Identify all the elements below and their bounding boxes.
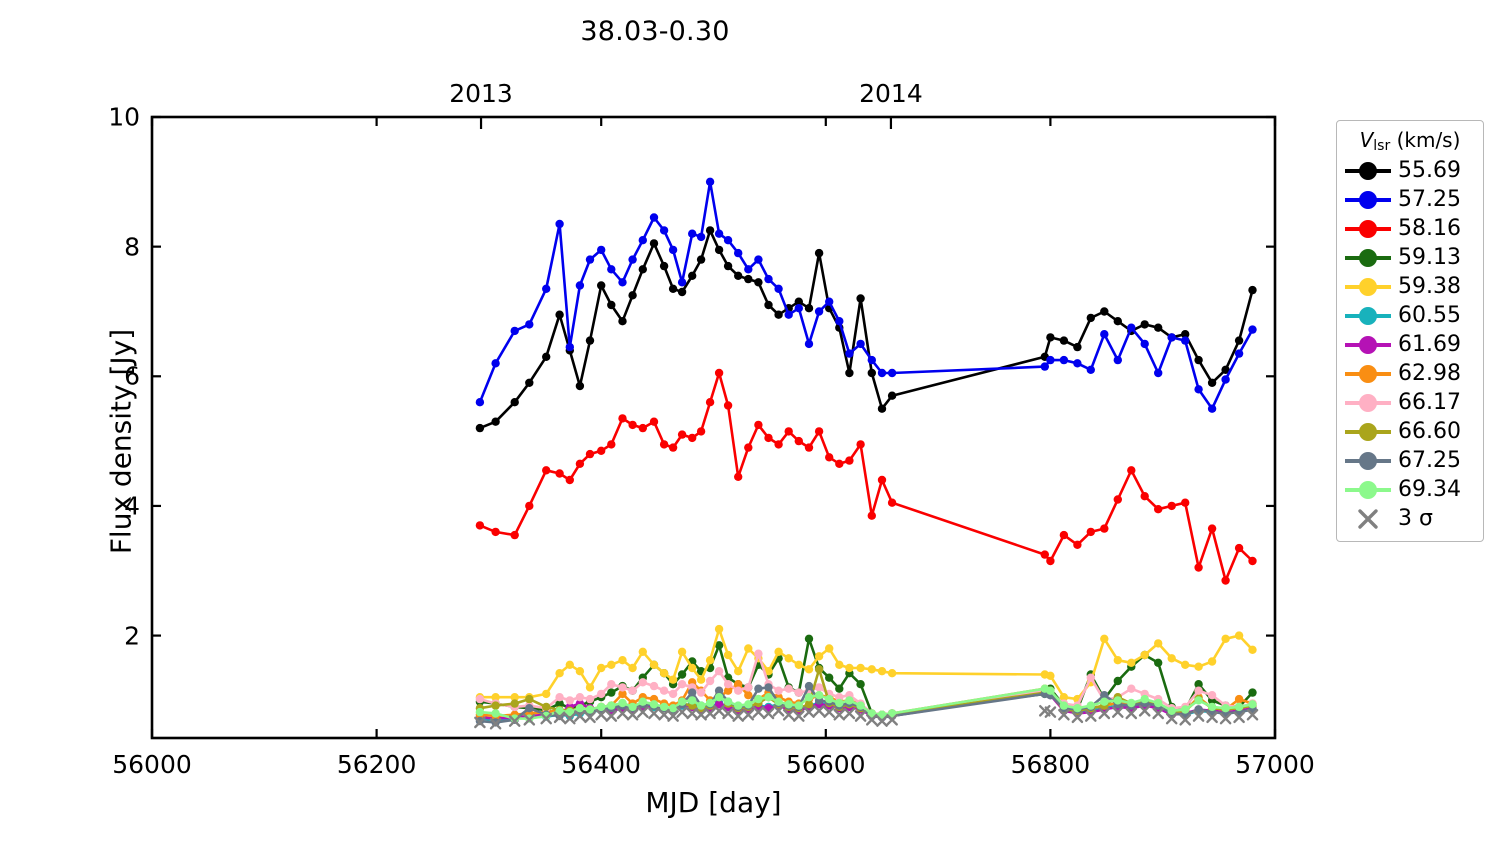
year-tick-label: 2013 xyxy=(449,79,513,108)
data-point xyxy=(1114,495,1122,503)
data-point xyxy=(1100,635,1108,643)
data-point xyxy=(597,246,605,254)
data-point xyxy=(888,669,896,677)
data-point xyxy=(1073,359,1081,367)
data-point xyxy=(1181,336,1189,344)
data-point xyxy=(476,398,484,406)
data-point xyxy=(542,353,550,361)
legend-item-61.69[interactable]: 61.69 xyxy=(1345,330,1475,359)
data-point xyxy=(1248,557,1256,565)
legend-color-swatch xyxy=(1345,160,1391,182)
data-point xyxy=(650,239,658,247)
data-point xyxy=(1046,687,1054,695)
data-point xyxy=(650,418,658,426)
data-point xyxy=(525,695,533,703)
legend-color-swatch xyxy=(1345,392,1391,414)
data-point xyxy=(825,674,833,682)
legend-marker-dot xyxy=(1359,307,1377,325)
data-point xyxy=(724,651,732,659)
legend-color-swatch xyxy=(1345,450,1391,472)
data-point xyxy=(639,424,647,432)
data-point xyxy=(1168,502,1176,510)
legend-item-60.55[interactable]: 60.55 xyxy=(1345,301,1475,330)
data-point xyxy=(688,664,696,672)
data-point xyxy=(1248,286,1256,294)
y-tick-label: 10 xyxy=(66,103,140,132)
x-tick-label: 56000 xyxy=(112,750,192,779)
data-point xyxy=(618,317,626,325)
data-point xyxy=(669,285,677,293)
data-point xyxy=(1154,659,1162,667)
data-point xyxy=(805,635,813,643)
data-point xyxy=(774,698,782,706)
data-point xyxy=(576,704,584,712)
data-point xyxy=(628,664,636,672)
legend-title: Vlsr (km/s) xyxy=(1345,128,1475,154)
data-point xyxy=(586,683,594,691)
data-point xyxy=(715,667,723,675)
data-point xyxy=(805,304,813,312)
series-58.16 xyxy=(476,369,1257,585)
legend-item-58.16[interactable]: 58.16 xyxy=(1345,214,1475,243)
x-tick-label: 56400 xyxy=(561,750,641,779)
data-point xyxy=(650,661,658,669)
data-point xyxy=(706,178,714,186)
data-point xyxy=(754,255,762,263)
data-point xyxy=(785,311,793,319)
data-point xyxy=(628,687,636,695)
data-point xyxy=(660,440,668,448)
legend-item-label: 60.55 xyxy=(1391,303,1461,328)
data-point xyxy=(754,695,762,703)
data-point xyxy=(1060,336,1068,344)
data-point xyxy=(724,236,732,244)
legend-item-66.17[interactable]: 66.17 xyxy=(1345,388,1475,417)
data-point xyxy=(1168,707,1176,715)
data-point xyxy=(724,680,732,688)
x-tick-label: 56800 xyxy=(1011,750,1091,779)
data-point xyxy=(678,698,686,706)
data-point xyxy=(868,356,876,364)
data-point xyxy=(597,447,605,455)
legend-marker-dot xyxy=(1359,394,1377,412)
data-point xyxy=(1235,631,1243,639)
data-point xyxy=(607,661,615,669)
data-point xyxy=(706,398,714,406)
data-point xyxy=(724,401,732,409)
data-point xyxy=(1114,696,1122,704)
data-point xyxy=(795,437,803,445)
data-point xyxy=(1168,654,1176,662)
data-point xyxy=(678,670,686,678)
data-point xyxy=(845,456,853,464)
data-point xyxy=(754,278,762,286)
legend-color-swatch xyxy=(1345,421,1391,443)
data-point xyxy=(1046,356,1054,364)
data-point xyxy=(764,693,772,701)
data-point xyxy=(715,693,723,701)
legend-item-59.38[interactable]: 59.38 xyxy=(1345,272,1475,301)
data-point xyxy=(744,275,752,283)
data-point xyxy=(628,703,636,711)
data-point xyxy=(1221,576,1229,584)
legend-box: Vlsr (km/s) 55.6957.2558.1659.1359.3860.… xyxy=(1336,120,1484,542)
data-point xyxy=(491,709,499,717)
data-point xyxy=(1181,661,1189,669)
x-tick-label: 56200 xyxy=(337,750,417,779)
data-point xyxy=(628,421,636,429)
data-point xyxy=(785,700,793,708)
data-point xyxy=(1208,405,1216,413)
legend-item-67.25[interactable]: 67.25 xyxy=(1345,446,1475,475)
data-point xyxy=(1141,492,1149,500)
legend-item-57.25[interactable]: 57.25 xyxy=(1345,185,1475,214)
data-point xyxy=(815,683,823,691)
data-point xyxy=(639,678,647,686)
data-point xyxy=(697,688,705,696)
data-point xyxy=(542,703,550,711)
data-point xyxy=(669,246,677,254)
data-point xyxy=(1248,646,1256,654)
data-point xyxy=(1154,699,1162,707)
data-point xyxy=(576,281,584,289)
legend-title-symbol: V xyxy=(1360,128,1374,152)
data-point xyxy=(888,369,896,377)
data-point xyxy=(805,693,813,701)
x-axis-label: MJD [day] xyxy=(152,786,1275,819)
data-point xyxy=(555,469,563,477)
data-point xyxy=(628,255,636,263)
data-point xyxy=(835,317,843,325)
legend-color-swatch xyxy=(1345,276,1391,298)
data-point xyxy=(1073,541,1081,549)
data-point xyxy=(724,262,732,270)
legend-title-unit: (km/s) xyxy=(1390,128,1460,152)
legend-marker-dot xyxy=(1359,220,1377,238)
data-point xyxy=(1127,466,1135,474)
data-point xyxy=(576,693,584,701)
data-point xyxy=(1208,524,1216,532)
data-point xyxy=(1154,505,1162,513)
data-point xyxy=(1073,704,1081,712)
data-point xyxy=(688,696,696,704)
data-point xyxy=(607,265,615,273)
data-point xyxy=(1141,340,1149,348)
legend-marker-dot xyxy=(1359,452,1377,470)
data-point xyxy=(1248,325,1256,333)
legend-item-label: 62.98 xyxy=(1391,361,1461,386)
data-point xyxy=(1168,333,1176,341)
data-point xyxy=(1181,705,1189,713)
data-point xyxy=(511,398,519,406)
data-point xyxy=(1194,663,1202,671)
data-point xyxy=(639,698,647,706)
data-point xyxy=(555,669,563,677)
data-point xyxy=(715,246,723,254)
data-point xyxy=(688,272,696,280)
data-point xyxy=(476,424,484,432)
data-point xyxy=(856,664,864,672)
data-point xyxy=(754,421,762,429)
series-line xyxy=(480,230,1253,428)
data-point xyxy=(734,687,742,695)
data-point xyxy=(856,340,864,348)
data-point xyxy=(1127,659,1135,667)
data-point xyxy=(795,688,803,696)
data-point xyxy=(678,430,686,438)
data-point xyxy=(542,690,550,698)
legend-item-label: 55.69 xyxy=(1391,158,1461,183)
data-point xyxy=(669,704,677,712)
data-point xyxy=(525,502,533,510)
data-point xyxy=(878,405,886,413)
data-point xyxy=(764,683,772,691)
data-point xyxy=(1141,320,1149,328)
data-point xyxy=(774,440,782,448)
data-point xyxy=(678,278,686,286)
legend-item-55.69[interactable]: 55.69 xyxy=(1345,156,1475,185)
data-point xyxy=(1087,674,1095,682)
data-point xyxy=(868,665,876,673)
data-point xyxy=(1235,336,1243,344)
data-point xyxy=(525,379,533,387)
data-point xyxy=(597,703,605,711)
data-point xyxy=(586,336,594,344)
data-point xyxy=(706,699,714,707)
data-point xyxy=(805,665,813,673)
data-point xyxy=(511,531,519,539)
y-tick-label: 8 xyxy=(66,232,140,261)
data-point xyxy=(650,682,658,690)
legend-color-swatch xyxy=(1345,218,1391,240)
data-layer xyxy=(475,178,1257,729)
legend-color-swatch xyxy=(1345,247,1391,269)
data-point xyxy=(1087,701,1095,709)
data-point xyxy=(1041,550,1049,558)
data-point xyxy=(1087,314,1095,322)
data-point xyxy=(764,301,772,309)
data-point xyxy=(476,708,484,716)
data-point xyxy=(754,685,762,693)
data-point xyxy=(1114,356,1122,364)
data-point xyxy=(576,382,584,390)
data-point xyxy=(1114,317,1122,325)
data-point xyxy=(1141,651,1149,659)
data-point xyxy=(1141,695,1149,703)
data-point xyxy=(688,434,696,442)
y-tick-label: 4 xyxy=(66,491,140,520)
plot-axes xyxy=(0,0,1500,844)
data-point xyxy=(607,701,615,709)
legend-item-label: 69.34 xyxy=(1391,477,1461,502)
data-point xyxy=(734,667,742,675)
x-tick-label: 56600 xyxy=(786,750,866,779)
data-point xyxy=(715,625,723,633)
y-axis-label: Flux density [Jy] xyxy=(105,131,138,753)
x-tick-label: 57000 xyxy=(1235,750,1315,779)
data-point xyxy=(1208,657,1216,665)
data-point xyxy=(1154,639,1162,647)
data-point xyxy=(856,680,864,688)
data-point xyxy=(1127,699,1135,707)
data-point xyxy=(586,255,594,263)
data-point xyxy=(825,695,833,703)
data-point xyxy=(835,685,843,693)
data-point xyxy=(525,704,533,712)
data-point xyxy=(744,683,752,691)
data-point xyxy=(1194,687,1202,695)
data-point xyxy=(618,683,626,691)
data-point xyxy=(754,650,762,658)
data-point xyxy=(706,677,714,685)
legend-sigma-swatch xyxy=(1345,508,1391,530)
data-point xyxy=(697,255,705,263)
legend-item-label: 61.69 xyxy=(1391,332,1461,357)
data-point xyxy=(868,369,876,377)
legend-marker-dot xyxy=(1359,481,1377,499)
data-point xyxy=(1060,531,1068,539)
data-point xyxy=(476,695,484,703)
data-point xyxy=(734,701,742,709)
data-point xyxy=(1046,557,1054,565)
data-point xyxy=(845,369,853,377)
data-point xyxy=(825,453,833,461)
legend-marker-dot xyxy=(1359,336,1377,354)
data-point xyxy=(1087,366,1095,374)
legend-item-59.13[interactable]: 59.13 xyxy=(1345,243,1475,272)
legend-item-label: 66.17 xyxy=(1391,390,1461,415)
data-point xyxy=(491,359,499,367)
data-point xyxy=(618,278,626,286)
data-point xyxy=(1100,307,1108,315)
data-point xyxy=(511,699,519,707)
legend-color-swatch xyxy=(1345,189,1391,211)
data-point xyxy=(1194,696,1202,704)
data-point xyxy=(688,688,696,696)
data-point xyxy=(845,664,853,672)
data-point xyxy=(845,349,853,357)
data-point xyxy=(744,644,752,652)
data-point xyxy=(491,528,499,536)
data-point xyxy=(618,699,626,707)
data-point xyxy=(805,340,813,348)
data-point xyxy=(1114,656,1122,664)
data-point xyxy=(491,701,499,709)
data-point xyxy=(678,680,686,688)
data-point xyxy=(1235,695,1243,703)
data-point xyxy=(607,688,615,696)
data-point xyxy=(835,661,843,669)
data-point xyxy=(1127,685,1135,693)
legend-sigma-label: 3 σ xyxy=(1391,506,1433,531)
data-point xyxy=(715,369,723,377)
legend-entries: 55.6957.2558.1659.1359.3860.5561.6962.98… xyxy=(1345,156,1475,533)
data-point xyxy=(1127,324,1135,332)
data-point xyxy=(785,654,793,662)
data-point xyxy=(856,701,864,709)
data-point xyxy=(678,288,686,296)
data-point xyxy=(555,220,563,228)
data-point xyxy=(607,440,615,448)
y-tick-label: 6 xyxy=(66,362,140,391)
data-point xyxy=(878,476,886,484)
data-point xyxy=(650,213,658,221)
y-tick-label: 2 xyxy=(66,621,140,650)
data-point xyxy=(697,676,705,684)
data-point xyxy=(774,648,782,656)
data-point xyxy=(1154,324,1162,332)
data-point xyxy=(618,656,626,664)
legend-item-3-sigma[interactable]: 3 σ xyxy=(1345,504,1475,533)
data-point xyxy=(1060,701,1068,709)
year-tick-label: 2014 xyxy=(859,79,923,108)
data-point xyxy=(878,369,886,377)
data-point xyxy=(715,230,723,238)
data-point xyxy=(511,327,519,335)
legend-item-69.34[interactable]: 69.34 xyxy=(1345,475,1475,504)
data-point xyxy=(1208,379,1216,387)
data-point xyxy=(835,460,843,468)
data-point xyxy=(660,703,668,711)
data-point xyxy=(607,680,615,688)
data-point xyxy=(706,226,714,234)
data-point xyxy=(1221,375,1229,383)
data-point xyxy=(815,691,823,699)
legend-item-66.60[interactable]: 66.60 xyxy=(1345,417,1475,446)
data-point xyxy=(697,233,705,241)
data-point xyxy=(678,648,686,656)
data-point xyxy=(1100,698,1108,706)
data-point xyxy=(815,249,823,257)
data-point xyxy=(744,265,752,273)
data-point xyxy=(825,644,833,652)
data-point xyxy=(878,667,886,675)
legend-item-62.98[interactable]: 62.98 xyxy=(1345,359,1475,388)
legend-color-swatch xyxy=(1345,334,1391,356)
legend-marker-dot xyxy=(1359,365,1377,383)
data-point xyxy=(825,298,833,306)
data-point xyxy=(639,648,647,656)
data-point xyxy=(1194,356,1202,364)
data-point xyxy=(542,466,550,474)
legend-marker-dot xyxy=(1359,423,1377,441)
data-point xyxy=(669,690,677,698)
series-line xyxy=(480,182,1253,409)
data-point xyxy=(795,661,803,669)
data-point xyxy=(555,311,563,319)
legend-marker-dot xyxy=(1359,191,1377,209)
data-point xyxy=(660,226,668,234)
data-point xyxy=(815,665,823,673)
data-point xyxy=(597,281,605,289)
legend-item-label: 59.38 xyxy=(1391,274,1461,299)
data-point xyxy=(491,418,499,426)
data-point xyxy=(744,700,752,708)
data-point xyxy=(566,661,574,669)
data-point xyxy=(628,291,636,299)
data-point xyxy=(597,664,605,672)
series-line xyxy=(480,629,1253,699)
data-point xyxy=(795,701,803,709)
data-point xyxy=(639,236,647,244)
legend-marker-dot xyxy=(1359,162,1377,180)
data-point xyxy=(815,427,823,435)
data-point xyxy=(1235,349,1243,357)
data-point xyxy=(566,696,574,704)
data-point xyxy=(697,701,705,709)
legend-item-label: 57.25 xyxy=(1391,187,1461,212)
legend-marker-dot xyxy=(1359,249,1377,267)
